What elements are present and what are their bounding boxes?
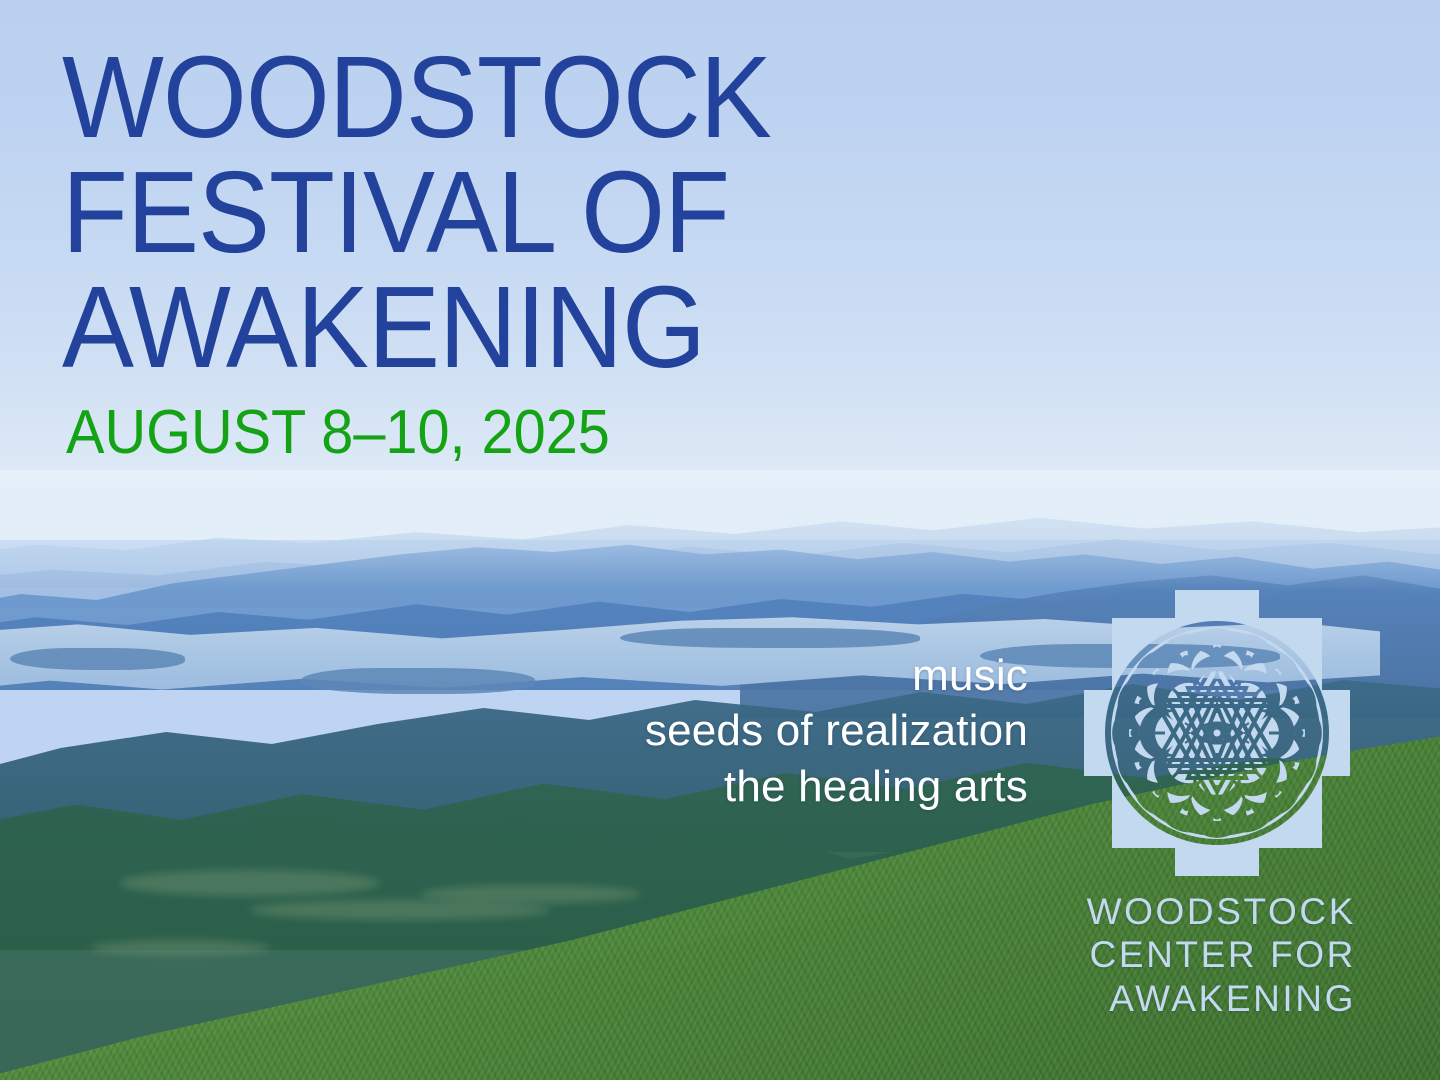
forest-clearing xyxy=(120,870,380,896)
title-line-3: AWAKENING xyxy=(62,270,955,385)
title-line-1: WOODSTOCK xyxy=(62,40,955,155)
sri-yantra-mandala-icon xyxy=(1074,588,1360,878)
forest-clearing xyxy=(90,940,270,956)
lake-island xyxy=(300,668,535,694)
lake-island xyxy=(10,648,185,670)
tagline-line-2: seeds of realization xyxy=(645,703,1028,758)
logo-wordmark: WOODSTOCK CENTER FOR AWAKENING xyxy=(1074,890,1360,1020)
headline-block: WOODSTOCK FESTIVAL OF AWAKENING AUGUST 8… xyxy=(62,40,1022,464)
forest-clearing xyxy=(250,900,550,920)
logo-text-line-1: WOODSTOCK xyxy=(1074,890,1356,933)
tagline-line-3: the healing arts xyxy=(645,759,1028,814)
tagline-line-1: music xyxy=(645,648,1028,703)
logo-text-line-2: CENTER FOR xyxy=(1074,933,1356,976)
festival-poster: WOODSTOCK FESTIVAL OF AWAKENING AUGUST 8… xyxy=(0,0,1440,1080)
organization-logo: WOODSTOCK CENTER FOR AWAKENING xyxy=(1074,588,1360,1020)
title-line-2: FESTIVAL OF xyxy=(62,155,955,270)
tagline-block: music seeds of realization the healing a… xyxy=(645,648,1028,814)
forest-clearing xyxy=(420,885,640,903)
lake-island xyxy=(620,628,920,648)
event-dates: AUGUST 8–10, 2025 xyxy=(66,402,955,464)
logo-text-line-3: AWAKENING xyxy=(1074,977,1356,1020)
